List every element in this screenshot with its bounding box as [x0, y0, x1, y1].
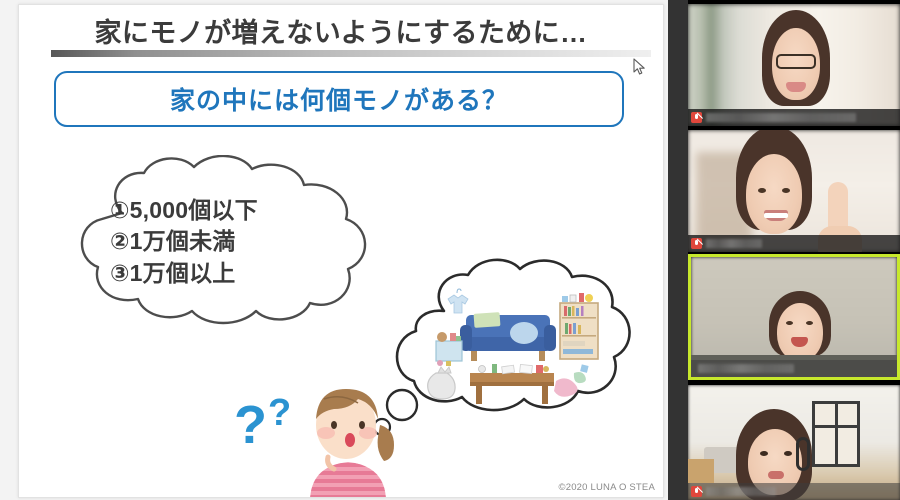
participant-eye-left	[760, 451, 768, 456]
participant-face	[746, 154, 802, 234]
mute-icon	[691, 486, 702, 497]
participant-name-bar-2	[688, 235, 900, 252]
participant-name-bar-3	[691, 360, 897, 377]
participant-name-label-2	[706, 239, 762, 248]
title-divider-rule	[51, 50, 651, 57]
participant-eye-left	[786, 321, 793, 325]
participant-face	[777, 303, 823, 361]
mute-icon	[691, 112, 702, 123]
participant-teeth	[764, 213, 788, 218]
svg-text:?: ?	[234, 395, 267, 455]
participant-name-label-3	[698, 364, 794, 373]
thinking-woman-illustration	[284, 377, 414, 498]
participant-tile-4[interactable]	[688, 385, 900, 500]
participant-video-3	[691, 257, 897, 377]
participant-video-2	[688, 130, 900, 252]
participant-eye-right	[782, 188, 790, 193]
participant-mouth	[768, 471, 784, 479]
room-illustration-icon	[374, 253, 644, 453]
shared-content-region: 家にモノが増えないようにするために… 家の中には何個モノがある？ ①5,000個…	[0, 0, 668, 500]
participant-eye-left	[758, 188, 766, 193]
question-box: 家の中には何個モノがある？	[54, 71, 624, 127]
answer-options-list: ①5,000個以下 ②1万個未満 ③1万個以上	[110, 195, 370, 289]
screen-share-meeting-view: 家にモノが増えないようにするために… 家の中には何個モノがある？ ①5,000個…	[0, 0, 900, 500]
question-text: 家の中には何個モノがある？	[170, 81, 508, 117]
participant-video-1	[688, 4, 900, 126]
option-item-2: ②1万個未満	[110, 226, 370, 257]
participant-eye-right	[784, 451, 792, 456]
headset-icon	[796, 437, 810, 471]
participant-name-bar-4	[688, 483, 900, 500]
cluttered-room-thought-bubble	[374, 253, 644, 453]
participant-tile-2[interactable]	[688, 130, 900, 252]
participant-name-label-1	[706, 113, 856, 122]
wooden-bench	[688, 459, 714, 483]
participant-tile-1[interactable]	[688, 4, 900, 126]
participant-tile-3[interactable]	[688, 254, 900, 380]
filmstrip-gutter	[668, 0, 688, 500]
answer-options-thought-bubble: ①5,000個以下 ②1万個未満 ③1万個以上	[64, 155, 384, 330]
copyright-notice: ©2020 LUNA O STEA	[559, 482, 655, 493]
participant-name-label-4	[706, 487, 776, 496]
option-item-1: ①5,000個以下	[110, 195, 370, 226]
woman-character-icon	[284, 377, 414, 498]
slide-title: 家にモノが増えないようにするために…	[19, 11, 663, 50]
bookshelf	[560, 293, 598, 359]
participant-mouth	[786, 82, 806, 92]
door-mullion-vertical	[835, 401, 838, 467]
participant-eye-right	[806, 321, 813, 325]
participant-name-bar-1	[688, 109, 900, 126]
participant-filmstrip[interactable]	[688, 0, 900, 500]
mute-icon	[691, 238, 702, 249]
participant-glasses	[776, 54, 816, 69]
presentation-slide: 家にモノが増えないようにするために… 家の中には何個モノがある？ ①5,000個…	[18, 4, 664, 498]
option-item-3: ③1万個以上	[110, 258, 370, 289]
